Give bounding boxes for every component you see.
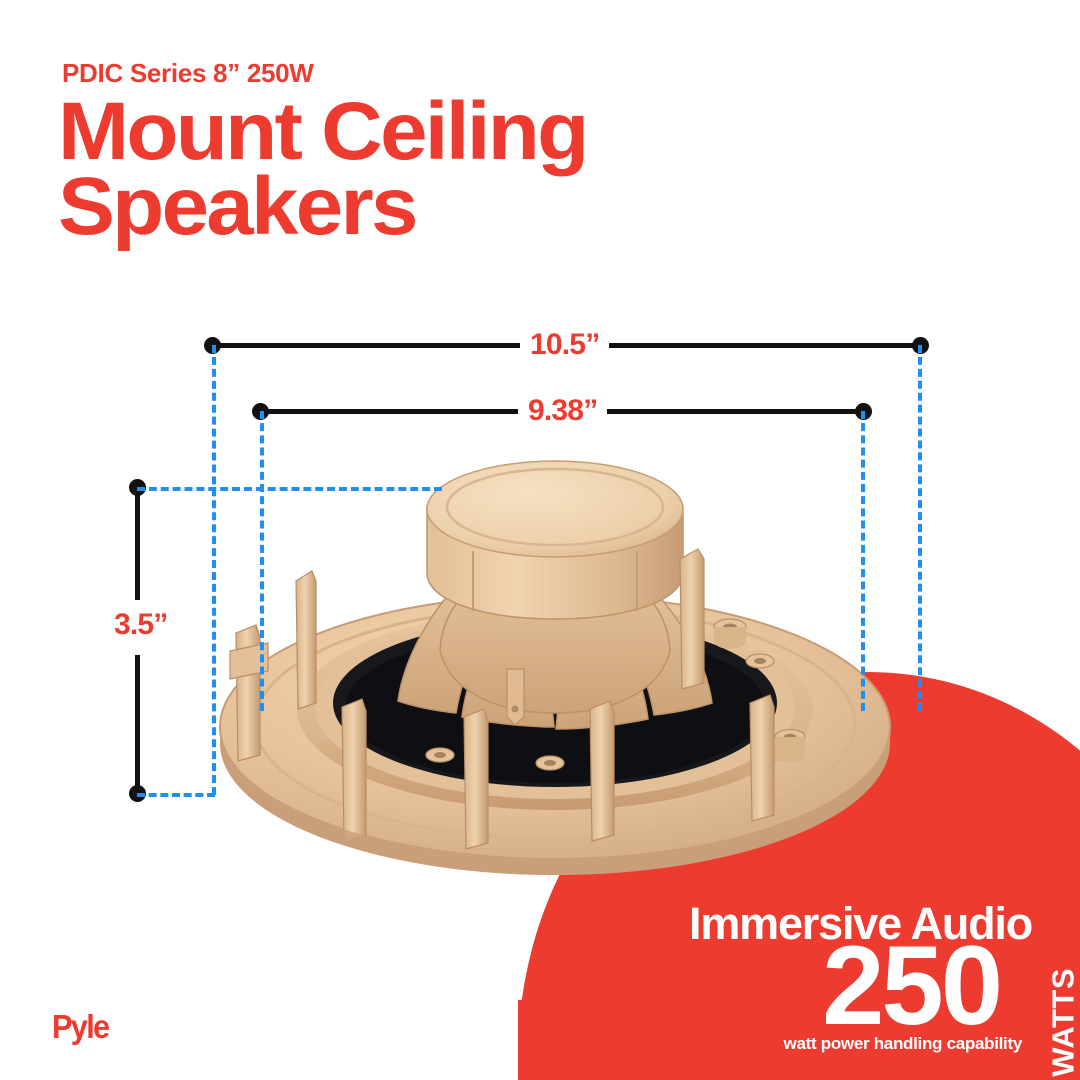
dim-line-overall-width [212,343,920,348]
dim-endpoint-depth-top [129,479,146,496]
dim-endpoint-cutout-width-left [252,403,269,420]
badge-wattage-number: 250 [822,930,1000,1042]
poster-canvas: PDIC Series 8” 250W Mount Ceiling Speake… [0,0,1080,1080]
badge-wattage-unit: WATTS [1046,968,1080,1077]
product-image [190,455,920,885]
dim-endpoint-overall-width-left [204,337,221,354]
dim-line-depth-upper [135,487,140,600]
dim-endpoint-overall-width-right [912,337,929,354]
dim-label-cutout-width: 9.38” [518,394,607,428]
dim-endpoint-depth-bottom [129,785,146,802]
headline-line-1: Mount Ceiling [58,94,587,169]
pyle-logo: Pyle [52,1008,108,1046]
badge-caption: watt power handling capability [784,1034,1022,1054]
dim-label-depth: 3.5” [104,608,178,642]
dim-line-cutout-width [260,409,863,414]
dim-endpoint-cutout-width-right [855,403,872,420]
headline-line-2: Speakers [58,169,587,244]
dim-label-overall-width: 10.5” [520,328,609,362]
product-series-eyebrow: PDIC Series 8” 250W [62,58,314,89]
page-title: Mount Ceiling Speakers [58,94,587,245]
dim-line-depth-lower [135,655,140,793]
